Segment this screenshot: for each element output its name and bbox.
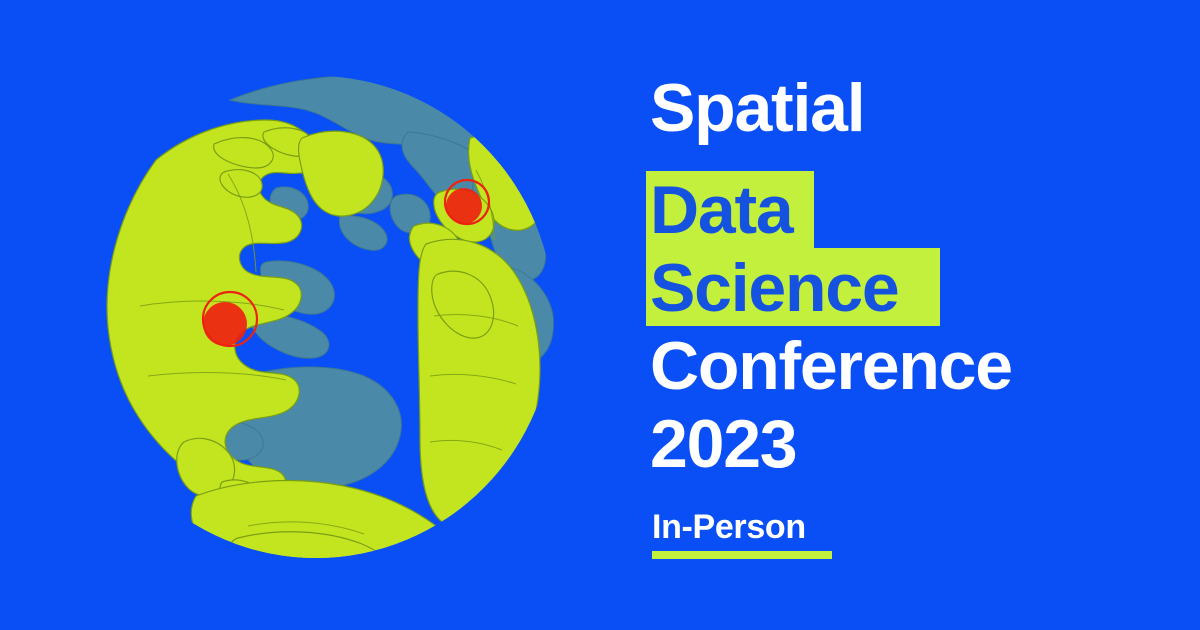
headline-line-conference: Conference: [650, 332, 1012, 400]
globe-illustration: [78, 76, 554, 558]
marker-north-america-dot: [203, 302, 247, 346]
headline-block: Spatial Data Science Conference 2023 In-…: [646, 74, 1166, 574]
subline-block: In-Person: [652, 510, 832, 559]
subline-label: In-Person: [652, 510, 832, 544]
headline-line-data: Data: [650, 176, 793, 244]
globe-svg: [78, 76, 554, 558]
conference-poster: Spatial Data Science Conference 2023 In-…: [0, 0, 1200, 630]
headline-line-year: 2023: [650, 410, 796, 478]
subline-underline: [652, 551, 832, 559]
headline-line-spatial: Spatial: [650, 74, 864, 142]
headline-line-science: Science: [650, 254, 899, 322]
marker-europe-dot: [446, 188, 482, 224]
